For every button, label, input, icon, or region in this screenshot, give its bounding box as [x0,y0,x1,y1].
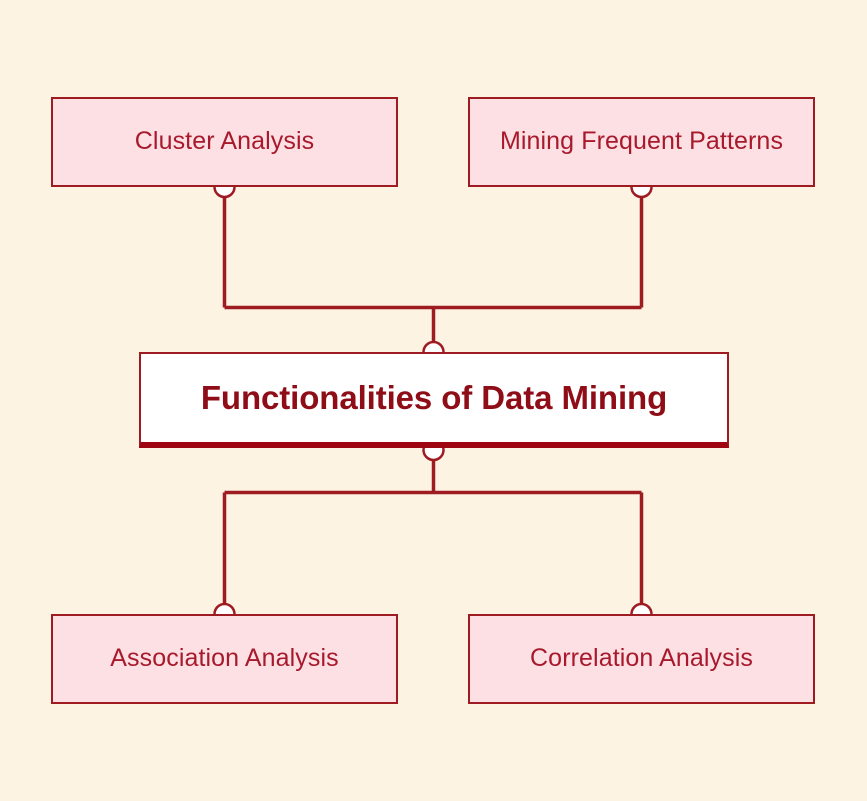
node-label: Mining Frequent Patterns [500,128,783,156]
node-label: Association Analysis [110,645,339,673]
diagram-canvas: Cluster Analysis Mining Frequent Pattern… [0,0,867,801]
node-mining-frequent-patterns[interactable]: Mining Frequent Patterns [468,97,815,187]
node-correlation-analysis[interactable]: Correlation Analysis [468,614,815,704]
node-cluster-analysis[interactable]: Cluster Analysis [51,97,398,187]
diagram-title: Functionalities of Data Mining [201,380,667,416]
node-label: Correlation Analysis [530,645,753,673]
node-association-analysis[interactable]: Association Analysis [51,614,398,704]
node-label: Cluster Analysis [135,128,314,156]
node-functionalities-of-data-mining[interactable]: Functionalities of Data Mining [139,352,729,448]
